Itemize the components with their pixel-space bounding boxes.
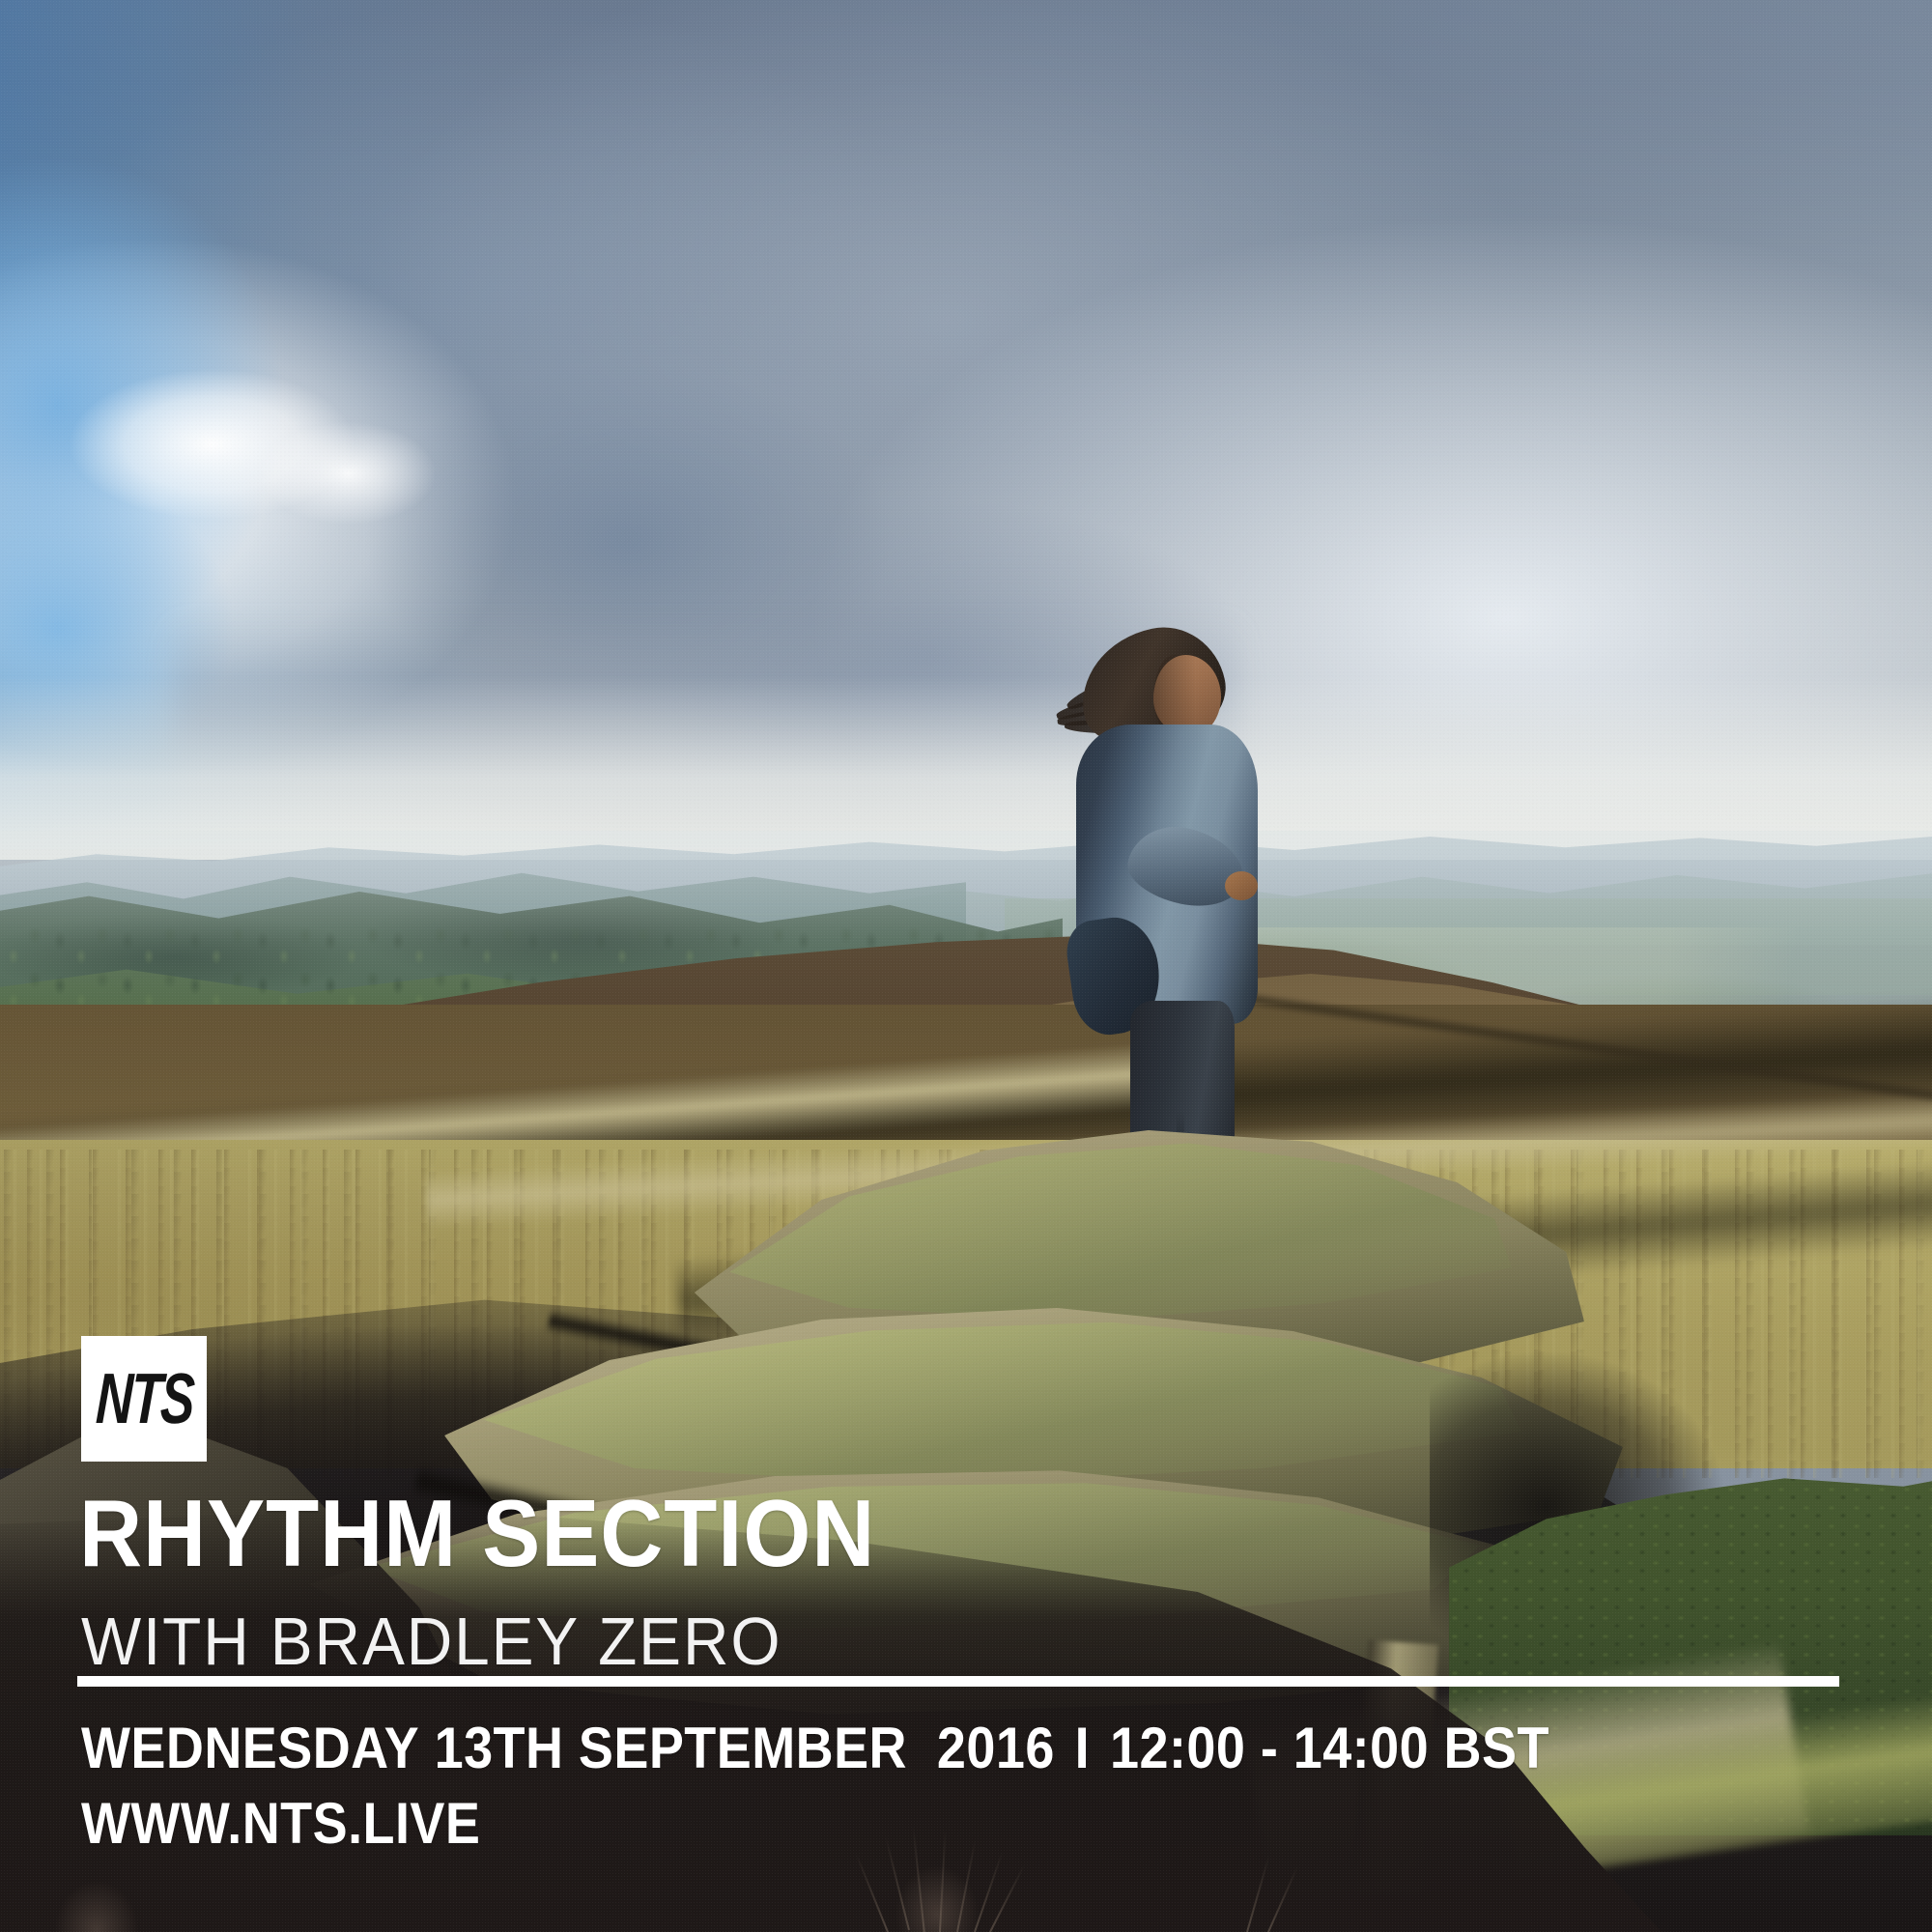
standing-person: [1053, 628, 1304, 1207]
white-cloud-upper-left: [58, 328, 464, 570]
website-url[interactable]: WWW.NTS.LIVE: [81, 1795, 480, 1853]
show-host-subtitle: WITH BRADLEY ZERO: [81, 1607, 781, 1675]
airtime-end: 14:00: [1293, 1716, 1429, 1780]
airtime-line: WEDNESDAY 13TH SEPTEMBER 2016 I 12:00 - …: [81, 1719, 1549, 1777]
airtime-start: 12:00: [1110, 1716, 1245, 1780]
airtime-dash: -: [1261, 1716, 1278, 1780]
airtime-day: WEDNESDAY: [81, 1716, 419, 1780]
page-title: RHYTHM SECTION: [79, 1486, 875, 1580]
grass-tuft: [29, 1864, 164, 1932]
airtime-year: 2016: [937, 1716, 1055, 1780]
nts-show-poster: NTS RHYTHM SECTION WITH BRADLEY ZERO WED…: [0, 0, 1932, 1932]
airtime-date: 13TH SEPTEMBER: [435, 1716, 907, 1780]
nts-logo-text: NTS: [95, 1363, 194, 1435]
nts-logo[interactable]: NTS: [81, 1336, 207, 1462]
divider-rule: [77, 1676, 1839, 1687]
airtime-separator: I: [1069, 1716, 1094, 1780]
hand: [1225, 871, 1258, 900]
airtime-timezone: BST: [1444, 1716, 1549, 1780]
